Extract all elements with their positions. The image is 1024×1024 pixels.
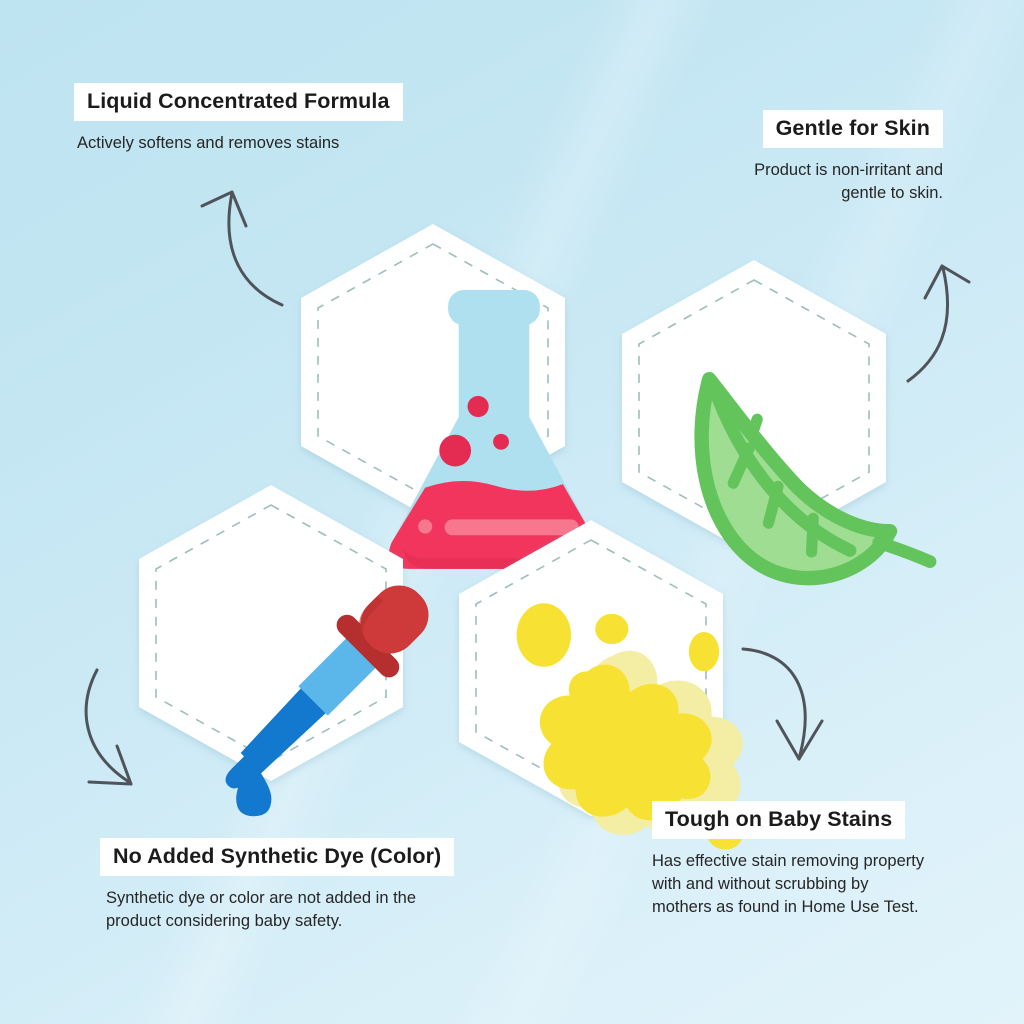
feature-description: Product is non-irritant and gentle to sk…	[625, 159, 943, 206]
arrow-to-liquid-formula	[196, 168, 306, 313]
feature-hexagon-liquid-formula	[297, 222, 569, 522]
feature-label-no-synthetic-dye: No Added Synthetic Dye (Color) Synthetic…	[100, 838, 454, 933]
flask-bubble	[468, 396, 489, 417]
arrow-to-no-synthetic-dye	[73, 660, 183, 800]
feature-title: Gentle for Skin	[763, 110, 943, 148]
dropper-icon	[185, 543, 457, 843]
feature-hexagon-gentle-for-skin	[618, 258, 890, 558]
feature-hexagon-tough-on-stains	[455, 518, 727, 818]
feature-title: No Added Synthetic Dye (Color)	[100, 838, 454, 876]
feature-description: Actively softens and removes stains	[77, 132, 403, 155]
feature-description: Has effective stain removing property wi…	[652, 850, 924, 920]
feature-title: Tough on Baby Stains	[652, 801, 905, 839]
feature-label-tough-on-stains: Tough on Baby Stains Has effective stain…	[652, 801, 924, 920]
feature-description: Synthetic dye or color are not added in …	[106, 887, 454, 934]
flask-bubble	[439, 435, 471, 467]
arrow-to-gentle-for-skin	[905, 256, 1010, 386]
product-features-infographic: Liquid Concentrated Formula Actively sof…	[0, 0, 1024, 1024]
arrow-to-tough-on-stains	[740, 637, 845, 777]
stain-droplet	[595, 614, 628, 644]
feature-title: Liquid Concentrated Formula	[74, 83, 403, 121]
stain-droplet	[517, 603, 571, 666]
stain-droplet	[689, 632, 719, 671]
flask-bubble	[493, 434, 509, 450]
feature-label-liquid-formula: Liquid Concentrated Formula Actively sof…	[74, 83, 403, 155]
feature-label-gentle-for-skin: Gentle for Skin Product is non-irritant …	[625, 110, 943, 205]
